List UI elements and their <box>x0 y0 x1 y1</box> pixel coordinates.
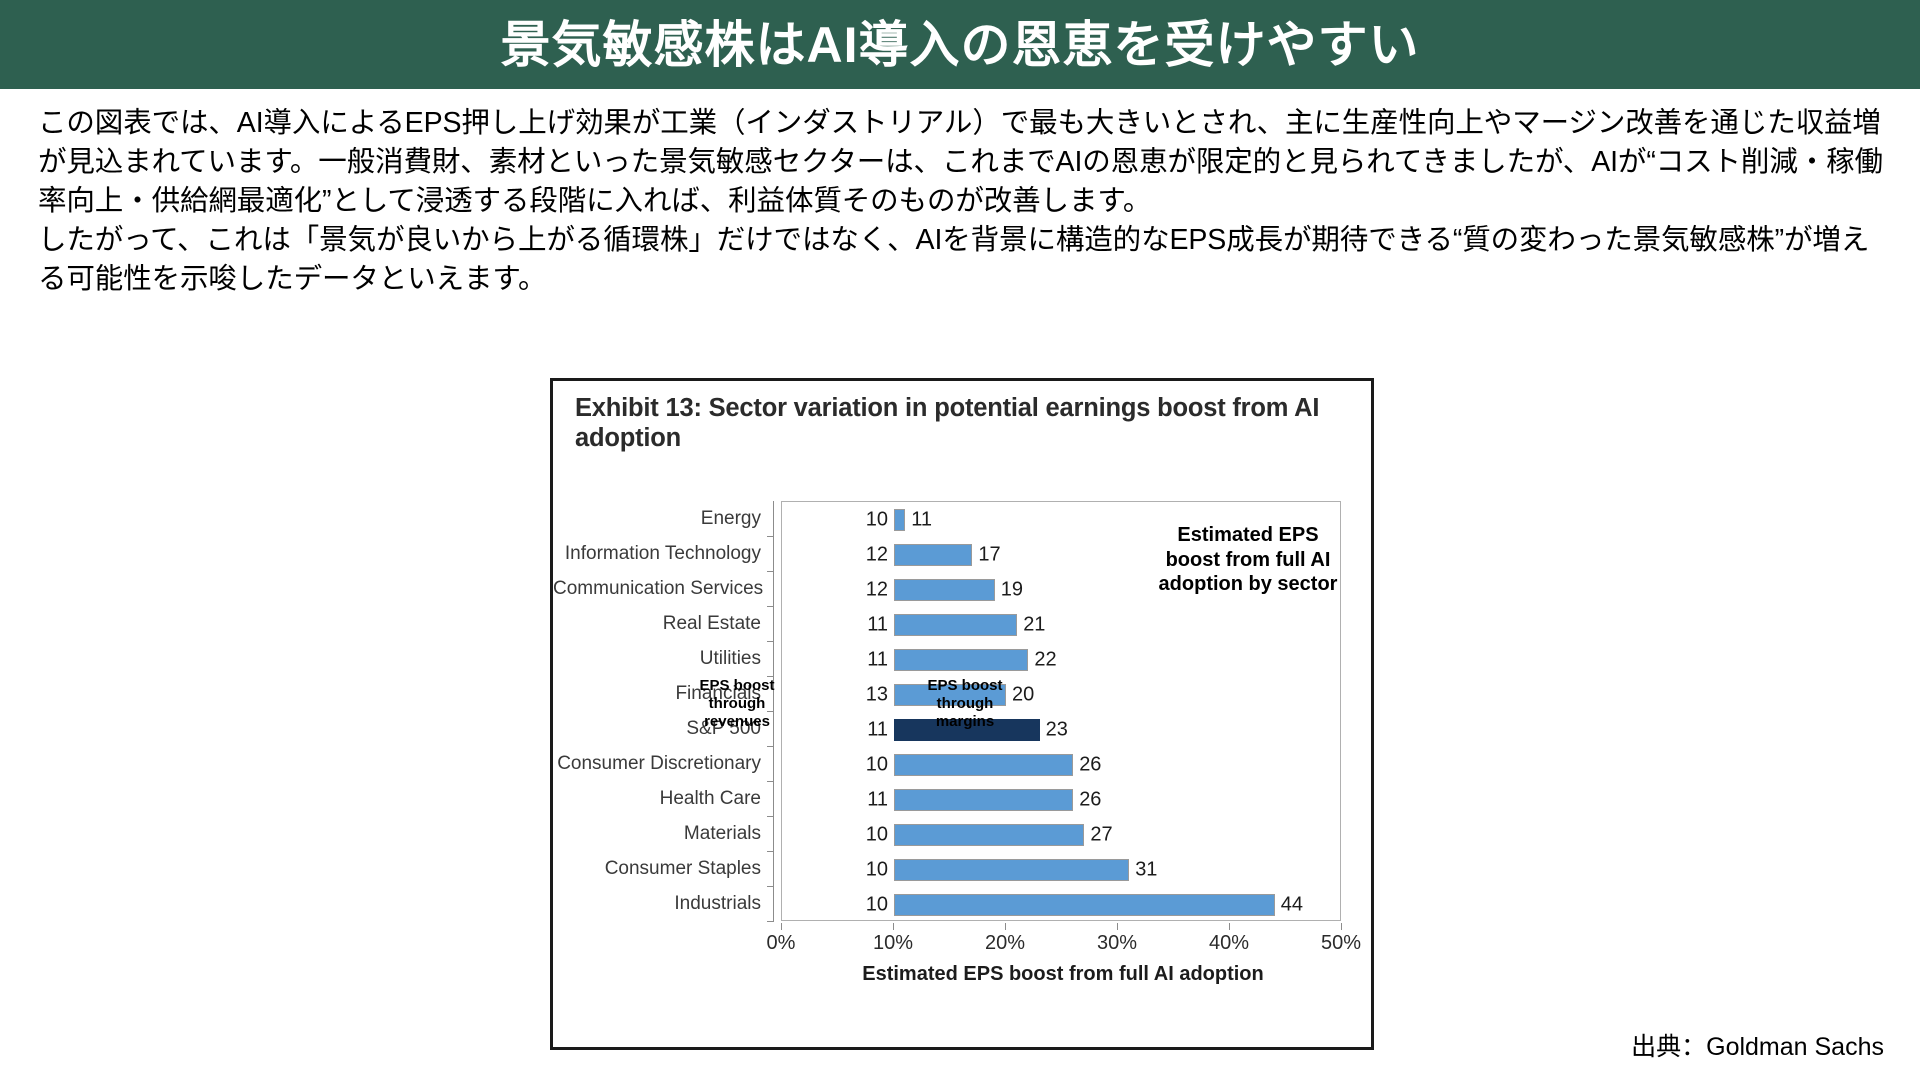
chart-x-tick-label: 10% <box>873 932 913 955</box>
chart-bar-row: 1044 <box>782 887 1340 922</box>
chart-legend-note: Estimated EPS boost from full AI adoptio… <box>1153 523 1343 597</box>
chart-bar-row: 1026 <box>782 747 1340 782</box>
slide-canvas: 景気敏感株はAI導入の恩恵を受けやすい この図表では、AI導入によるEPS押し上… <box>0 0 1920 1080</box>
chart-x-tick-label: 0% <box>767 932 796 955</box>
chart-x-tick <box>1229 923 1230 930</box>
chart-bar-value-right: 26 <box>1079 788 1101 811</box>
chart-bar-value-left: 11 <box>844 718 888 741</box>
chart-bar-value-right: 44 <box>1281 893 1303 916</box>
chart-bar-value-left: 10 <box>844 508 888 531</box>
chart-figure: Exhibit 13: Sector variation in potentia… <box>550 378 1374 1050</box>
chart-x-axis: 0%10%20%30%40%50% <box>781 923 1341 957</box>
chart-bar-value-right: 21 <box>1023 613 1045 636</box>
chart-plot-area: EnergyInformation TechnologyCommunicatio… <box>553 481 1371 1047</box>
chart-bar-row: 1122 <box>782 642 1340 677</box>
slide-header: 景気敏感株はAI導入の恩恵を受けやすい <box>0 0 1920 89</box>
chart-category-label: Consumer Discretionary <box>553 746 771 781</box>
chart-bar-value-left: 11 <box>844 648 888 671</box>
body-paragraph-1: この図表では、AI導入によるEPS押し上げ効果が工業（インダストリアル）で最も大… <box>38 104 1886 221</box>
chart-y-tick <box>767 676 774 677</box>
chart-y-tick <box>767 921 774 922</box>
chart-bar-value-left: 10 <box>844 893 888 916</box>
chart-x-tick <box>1005 923 1006 930</box>
chart-bar-value-left: 11 <box>844 613 888 636</box>
chart-bar <box>894 579 995 601</box>
chart-bar-row: 1027 <box>782 817 1340 852</box>
source-credit: 出典：Goldman Sachs <box>1631 1027 1884 1063</box>
chart-bar-value-right: 11 <box>911 508 932 531</box>
chart-category-label: Energy <box>553 501 771 536</box>
chart-bar-value-right: 17 <box>978 543 1000 566</box>
chart-annotation-margins: EPS boost through margins <box>913 677 1017 731</box>
chart-bar <box>894 509 905 531</box>
chart-bar-row: 1121 <box>782 607 1340 642</box>
chart-y-tick <box>767 851 774 852</box>
chart-category-label: Utilities <box>553 641 771 676</box>
body-paragraph-2: したがって、これは「景気が良いから上がる循環株」だけではなく、AIを背景に構造的… <box>38 221 1886 299</box>
chart-bar-row: 1320 <box>782 677 1340 712</box>
chart-x-tick-label: 40% <box>1209 932 1249 955</box>
chart-x-tick <box>781 923 782 930</box>
chart-y-tick <box>767 536 774 537</box>
body-text-block: この図表では、AI導入によるEPS押し上げ効果が工業（インダストリアル）で最も大… <box>38 104 1886 299</box>
chart-category-label: Communication Services <box>553 571 771 606</box>
chart-x-tick-label: 30% <box>1097 932 1137 955</box>
chart-x-tick-label: 20% <box>985 932 1025 955</box>
chart-bar-value-right: 19 <box>1001 578 1023 601</box>
chart-y-tick <box>767 606 774 607</box>
chart-bar <box>894 824 1084 846</box>
chart-category-label: Materials <box>553 816 771 851</box>
chart-x-tick <box>1117 923 1118 930</box>
chart-category-label: Health Care <box>553 781 771 816</box>
chart-bar <box>894 789 1073 811</box>
chart-bar <box>894 754 1073 776</box>
chart-bar-value-left: 10 <box>844 858 888 881</box>
chart-y-tick <box>767 886 774 887</box>
chart-category-label: Industrials <box>553 886 771 921</box>
chart-bar-value-left: 12 <box>844 543 888 566</box>
chart-y-tick <box>767 711 774 712</box>
chart-x-tick <box>1341 923 1342 930</box>
chart-bar-value-right: 23 <box>1046 718 1068 741</box>
chart-y-tick <box>767 746 774 747</box>
chart-category-label: Real Estate <box>553 606 771 641</box>
chart-bar <box>894 859 1129 881</box>
chart-bar-value-left: 13 <box>844 683 888 706</box>
chart-bar-value-left: 10 <box>844 753 888 776</box>
chart-bar-row: 1126 <box>782 782 1340 817</box>
chart-bar <box>894 649 1028 671</box>
chart-bar <box>894 894 1275 916</box>
chart-bar-value-right: 31 <box>1135 858 1157 881</box>
chart-y-tick <box>767 571 774 572</box>
page-title: 景気敏感株はAI導入の恩恵を受けやすい <box>501 20 1420 70</box>
chart-bar <box>894 614 1017 636</box>
chart-x-tick-label: 50% <box>1321 932 1361 955</box>
chart-bar-value-left: 11 <box>844 788 888 811</box>
chart-bar-row: 1123 <box>782 712 1340 747</box>
chart-bar-value-right: 27 <box>1090 823 1112 846</box>
chart-bar <box>894 544 972 566</box>
chart-y-tick <box>767 781 774 782</box>
chart-y-tick <box>767 641 774 642</box>
chart-x-tick <box>893 923 894 930</box>
chart-category-label: Consumer Staples <box>553 851 771 886</box>
chart-bar-value-right: 26 <box>1079 753 1101 776</box>
chart-bar-value-right: 22 <box>1034 648 1056 671</box>
chart-annotation-revenues: EPS boost through revenues <box>685 677 789 731</box>
chart-bar-value-left: 12 <box>844 578 888 601</box>
chart-bar-row: 1031 <box>782 852 1340 887</box>
chart-category-label: Information Technology <box>553 536 771 571</box>
chart-x-axis-title: Estimated EPS boost from full AI adoptio… <box>713 963 1413 986</box>
chart-y-tick <box>767 816 774 817</box>
chart-title: Exhibit 13: Sector variation in potentia… <box>575 393 1335 453</box>
chart-bar-value-left: 10 <box>844 823 888 846</box>
